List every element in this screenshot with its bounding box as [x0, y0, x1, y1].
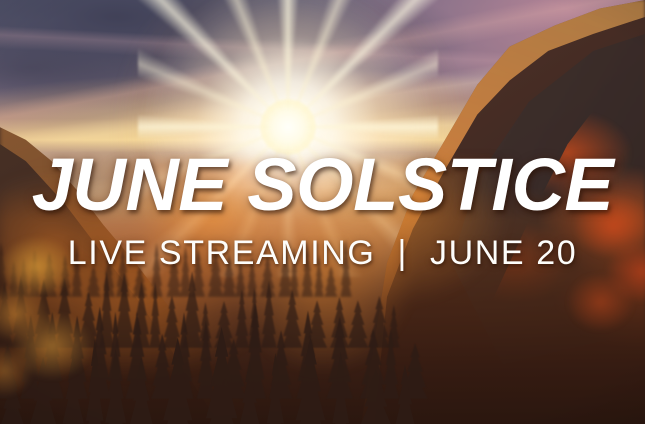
solstice-poster: JUNE SOLSTICE LIVE STREAMING | JUNE 20: [0, 0, 645, 424]
subtitle-right: JUNE 20: [430, 234, 577, 272]
text-block: JUNE SOLSTICE LIVE STREAMING | JUNE 20: [0, 148, 645, 270]
subtitle-separator: |: [387, 234, 419, 272]
subtitle: LIVE STREAMING | JUNE 20: [0, 236, 645, 270]
subtitle-left: LIVE STREAMING: [68, 234, 376, 272]
page-title: JUNE SOLSTICE: [0, 148, 645, 222]
